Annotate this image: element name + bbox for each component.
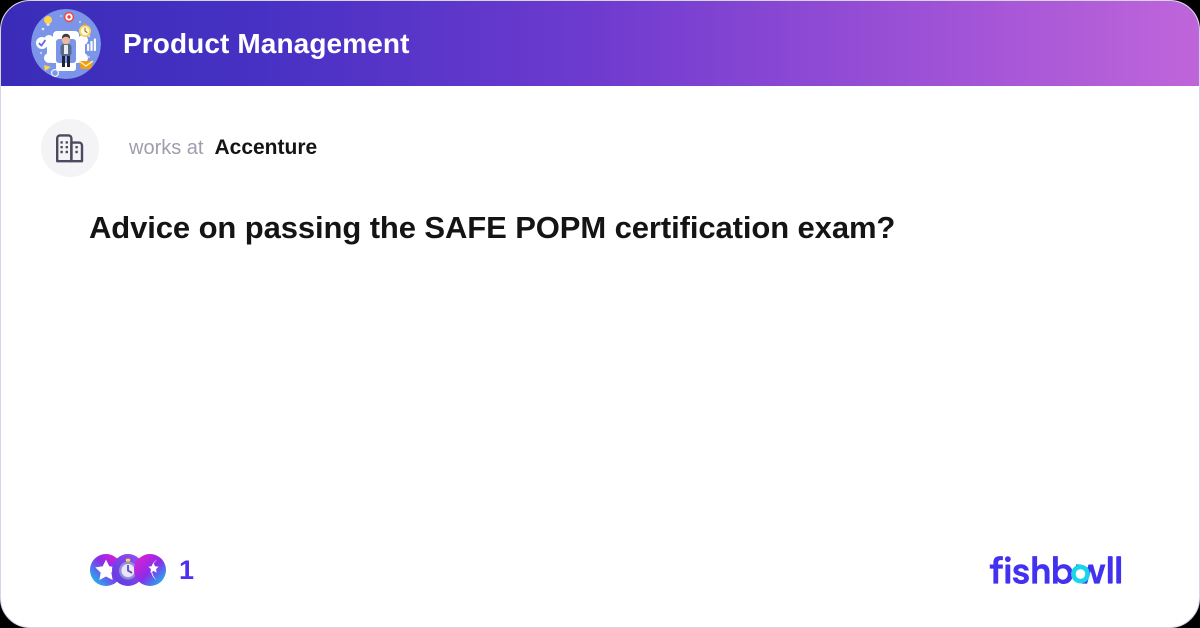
channel-title: Product Management <box>123 28 410 60</box>
reaction-count: 1 <box>179 557 194 584</box>
fishbowl-logo <box>981 549 1129 591</box>
post-card: Product Management <box>0 0 1200 628</box>
author-meta: works at Accenture <box>129 136 317 160</box>
product-management-illustration-avatar <box>31 9 101 79</box>
works-at-label: works at <box>129 137 203 160</box>
author-row: works at Accenture <box>41 119 317 177</box>
office-building-icon <box>41 119 99 177</box>
reaction-icons[interactable] <box>89 553 155 587</box>
company-name: Accenture <box>214 136 317 160</box>
post-title: Advice on passing the SAFE POPM certific… <box>89 208 1089 248</box>
crescent-reaction-icon[interactable] <box>133 553 167 587</box>
card-header: Product Management <box>1 1 1199 86</box>
reactions-group[interactable]: 1 <box>89 553 194 587</box>
card-body: works at Accenture Advice on passing the… <box>1 86 1199 627</box>
fishbowl-o-ring <box>1071 565 1090 584</box>
card-footer: 1 <box>41 547 1159 593</box>
